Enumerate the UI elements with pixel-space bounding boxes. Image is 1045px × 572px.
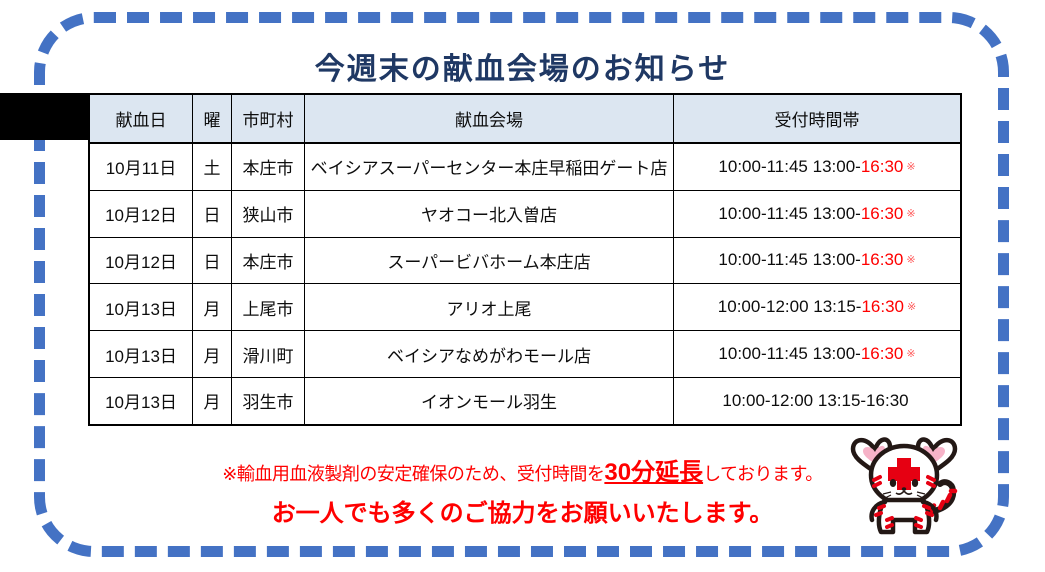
table-row: 10月12日日狭山市ヤオコー北入曽店10:00-11:45 13:00-16:3… [89,190,961,237]
column-header-date: 献血日 [89,94,193,143]
time-normal: 10:00-11:45 13:00- [718,250,860,269]
cell-city: 本庄市 [232,143,305,190]
time-normal: 10:00-12:00 13:15- [718,297,862,316]
cell-venue: ベイシアスーパーセンター本庄早稲田ゲート店 [305,143,674,190]
cell-reception-time: 10:00-12:00 13:15-16:30 [674,377,962,424]
cell-city: 滑川町 [232,331,305,378]
cell-city: 狭山市 [232,190,305,237]
column-header-dayofweek: 曜 [193,94,232,143]
cell-venue: アリオ上尾 [305,284,674,331]
cell-city: 本庄市 [232,237,305,284]
column-header-venue: 献血会場 [305,94,674,143]
cell-city: 上尾市 [232,284,305,331]
extension-marker-icon: ※ [906,208,915,220]
cell-venue: ヤオコー北入曽店 [305,190,674,237]
cell-reception-time: 10:00-11:45 13:00-16:30※ [674,237,962,284]
table-row: 10月12日日本庄市スーパービバホーム本庄店10:00-11:45 13:00-… [89,237,961,284]
extension-marker-icon: ※ [906,348,915,360]
cell-day-of-week: 月 [193,284,232,331]
time-normal: 10:00-12:00 13:15-16:30 [722,391,908,410]
time-normal: 10:00-11:45 13:00- [718,344,860,363]
redaction-block [0,93,89,140]
note-text-after: しております。 [703,464,823,484]
table-row: 10月13日月羽生市イオンモール羽生10:00-12:00 13:15-16:3… [89,377,961,424]
cell-date: 10月12日 [89,190,193,237]
time-extended-end: 16:30 [861,297,904,316]
cell-reception-time: 10:00-11:45 13:00-16:30※ [674,190,962,237]
cell-date: 10月13日 [89,284,193,331]
blood-donation-schedule-table: 献血日 曜 市町村 献血会場 受付時間帯 10月11日土本庄市ベイシアスーパーセ… [88,93,962,426]
cell-day-of-week: 月 [193,377,232,424]
cell-day-of-week: 日 [193,237,232,284]
cell-date: 10月13日 [89,331,193,378]
time-normal: 10:00-11:45 13:00- [718,157,860,176]
table-row: 10月13日月上尾市アリオ上尾10:00-12:00 13:15-16:30※ [89,284,961,331]
cell-venue: ベイシアなめがわモール店 [305,331,674,378]
cell-reception-time: 10:00-11:45 13:00-16:30※ [674,143,962,190]
page-title: 今週末の献血会場のお知らせ [0,44,1045,88]
cell-reception-time: 10:00-12:00 13:15-16:30※ [674,284,962,331]
note-text-before: ※輸血用血液製剤の安定確保のため、受付時間を [222,464,604,484]
table-row: 10月13日月滑川町ベイシアなめがわモール店10:00-11:45 13:00-… [89,331,961,378]
cell-date: 10月11日 [89,143,193,190]
cell-date: 10月13日 [89,377,193,424]
cell-city: 羽生市 [232,377,305,424]
cell-day-of-week: 月 [193,331,232,378]
cell-venue: スーパービバホーム本庄店 [305,237,674,284]
extension-marker-icon: ※ [906,254,915,266]
cell-day-of-week: 土 [193,143,232,190]
time-extended-end: 16:30 [861,204,904,223]
time-extended-end: 16:30 [861,157,904,176]
column-header-time: 受付時間帯 [674,94,962,143]
note-emphasis-30min: 30分延長 [604,459,703,486]
cell-day-of-week: 日 [193,190,232,237]
time-normal: 10:00-11:45 13:00- [718,204,860,223]
cell-venue: イオンモール羽生 [305,377,674,424]
cell-reception-time: 10:00-11:45 13:00-16:30※ [674,331,962,378]
cell-date: 10月12日 [89,237,193,284]
time-extended-end: 16:30 [861,344,904,363]
column-header-city: 市町村 [232,94,305,143]
time-extended-end: 16:30 [861,250,904,269]
extension-marker-icon: ※ [907,301,916,313]
kenketsu-chan-mascot-icon [845,420,965,545]
table-header-row: 献血日 曜 市町村 献血会場 受付時間帯 [89,94,961,143]
table-row: 10月11日土本庄市ベイシアスーパーセンター本庄早稲田ゲート店10:00-11:… [89,143,961,190]
extension-marker-icon: ※ [906,161,915,173]
